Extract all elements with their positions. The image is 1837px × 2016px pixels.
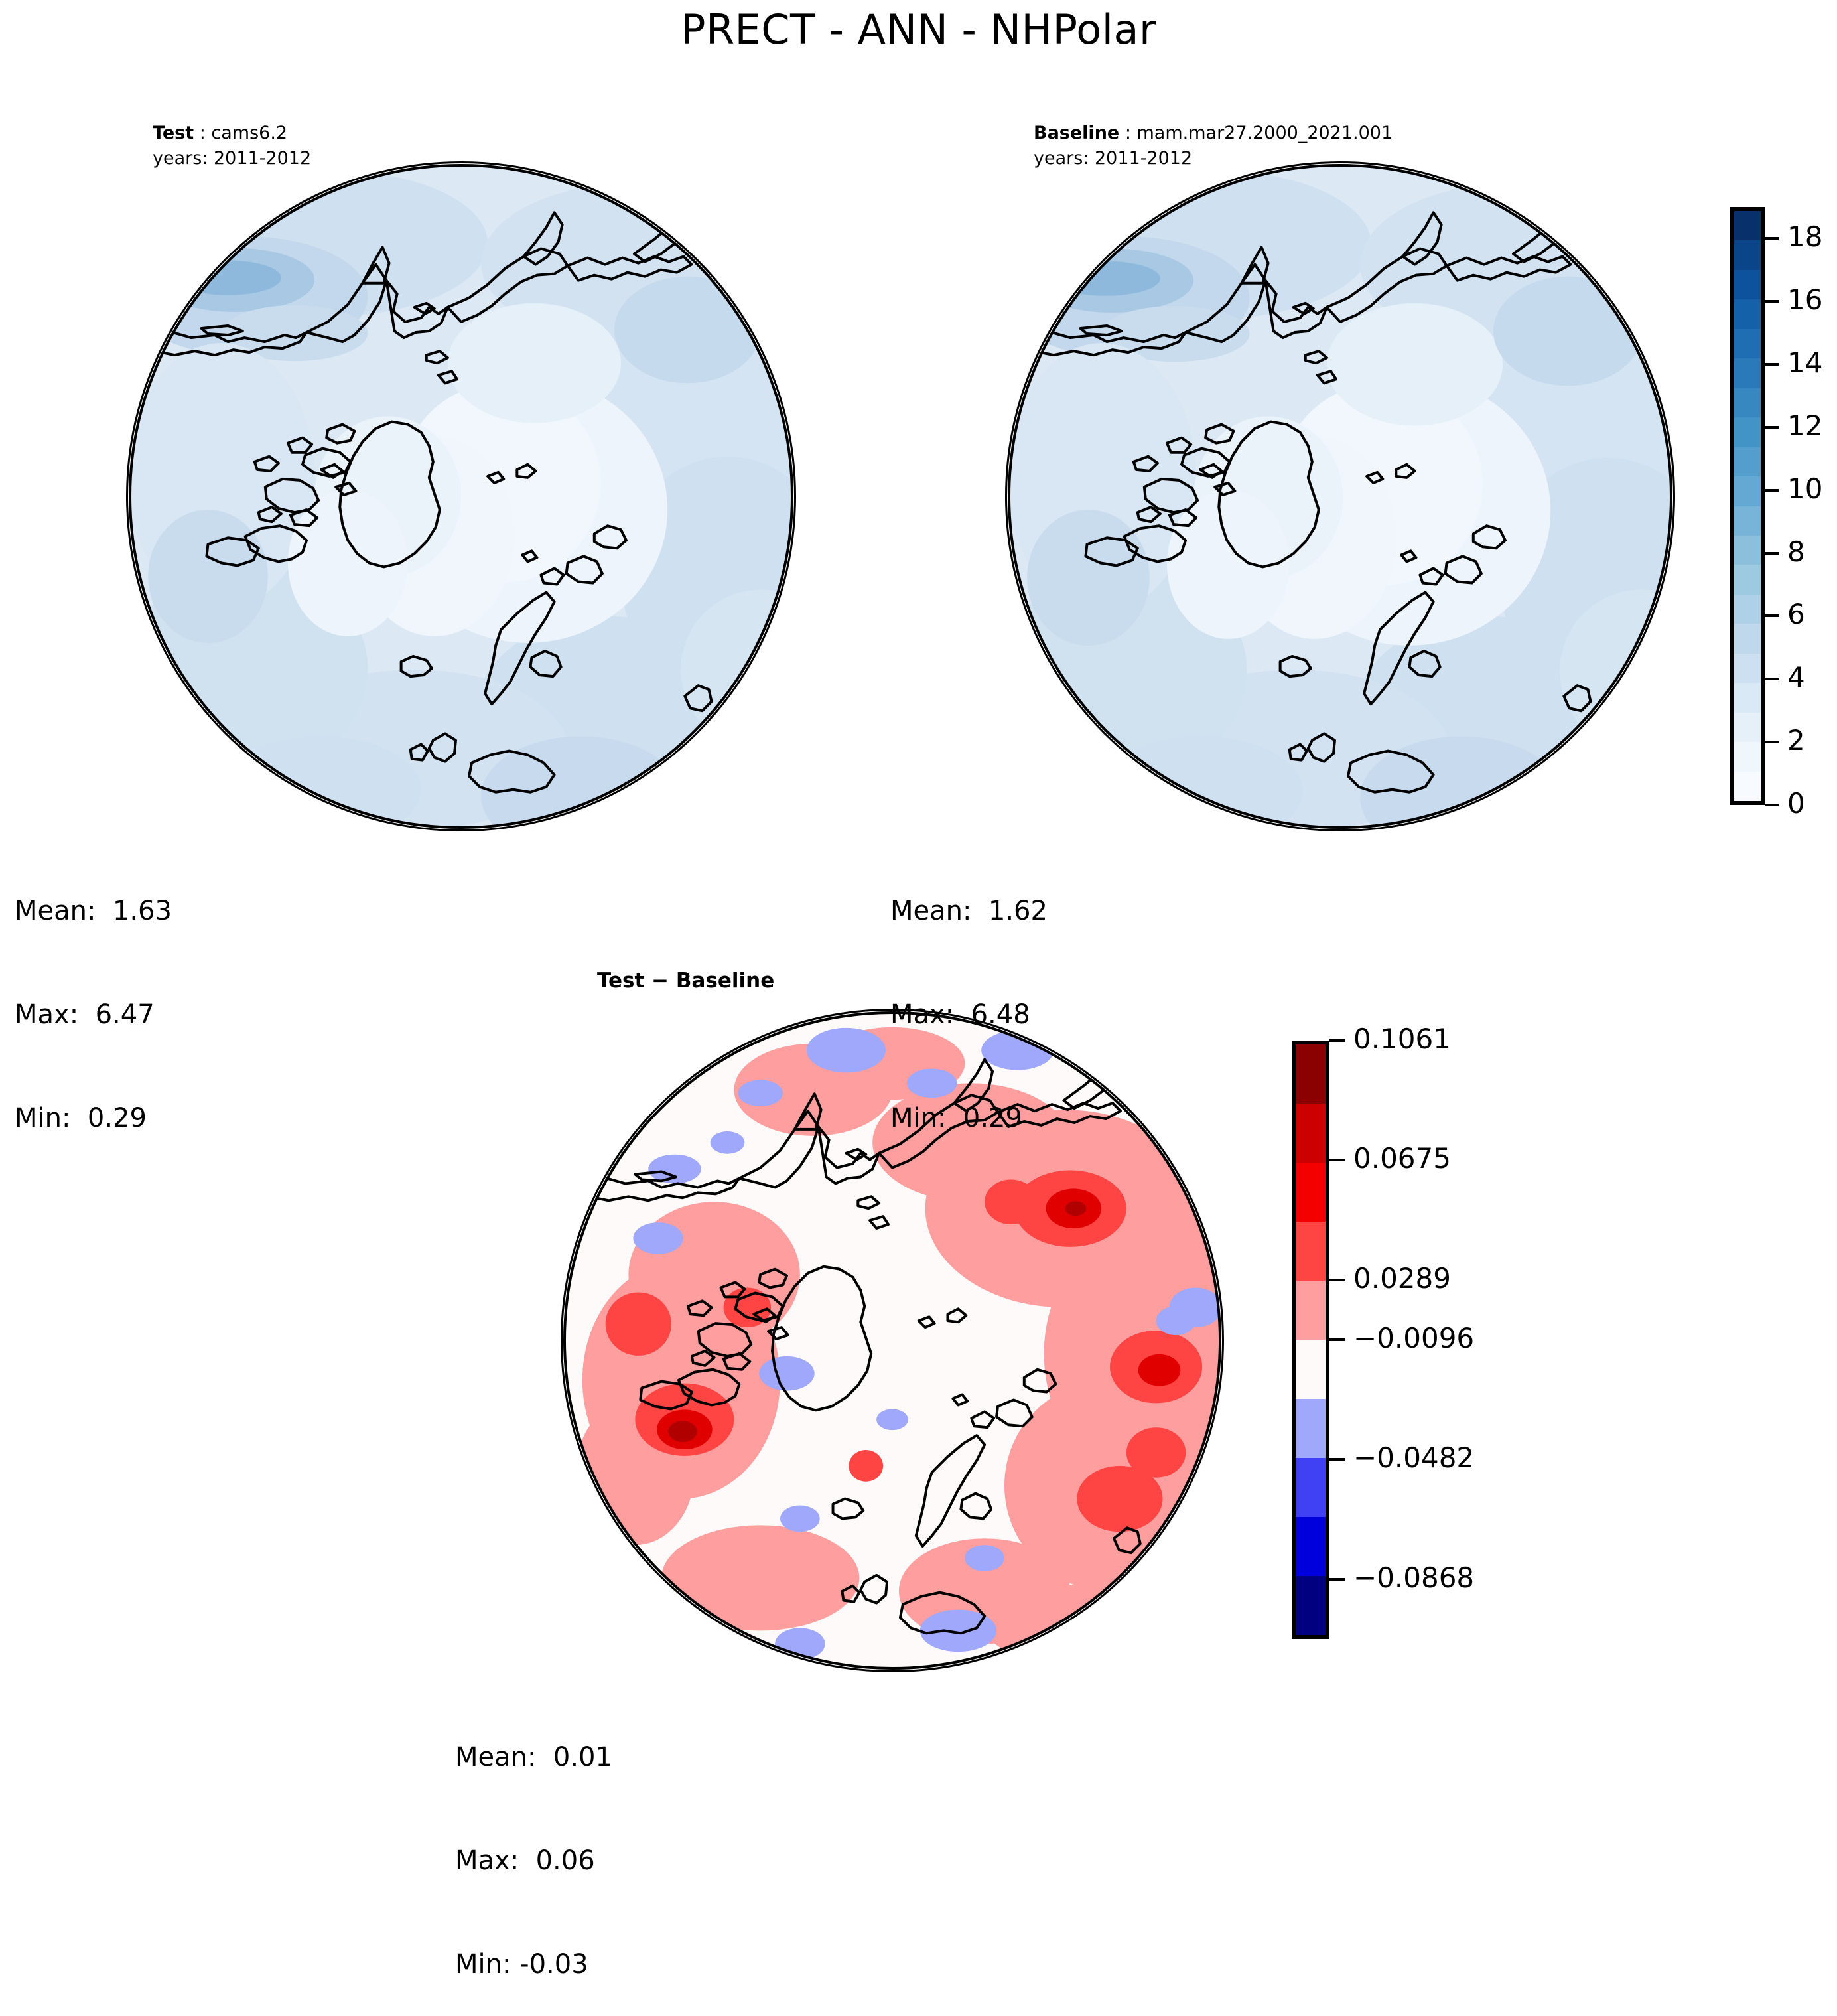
difference-colorbar-band xyxy=(1296,1281,1326,1340)
difference-colorbar-band xyxy=(1296,1044,1326,1104)
difference-colorbar-band xyxy=(1296,1163,1326,1222)
main-colorbar-tick-label: 16 xyxy=(1787,286,1822,314)
main-colorbar-band xyxy=(1734,358,1761,388)
main-colorbar-band xyxy=(1734,506,1761,536)
baseline-label: Baseline xyxy=(1034,123,1119,143)
main-colorbar-band xyxy=(1734,536,1761,565)
difference-colorbar-band xyxy=(1296,1104,1326,1163)
test-stats: Mean: 1.63 Max: 6.47 Min: 0.29 xyxy=(15,825,172,1170)
baseline-map-svg xyxy=(1007,163,1673,829)
difference-colorbar-band xyxy=(1296,1222,1326,1281)
difference-colorbar-tick-label: 0.1061 xyxy=(1353,1025,1451,1053)
difference-min: Min: -0.03 xyxy=(455,1947,612,1981)
main-colorbar-band xyxy=(1734,329,1761,358)
main-colorbar-tick-label: 12 xyxy=(1787,412,1822,440)
main-colorbar-tick xyxy=(1765,426,1779,429)
baseline-mean: Mean: 1.62 xyxy=(890,894,1048,928)
main-colorbar-tick-label: 14 xyxy=(1787,349,1822,377)
difference-mean: Mean: 0.01 xyxy=(455,1740,612,1774)
test-globe[interactable] xyxy=(126,161,796,831)
main-colorbar-tick-label: 2 xyxy=(1787,727,1805,755)
main-colorbar[interactable] xyxy=(1730,207,1765,805)
baseline-globe[interactable] xyxy=(1005,161,1675,831)
difference-colorbar-tick xyxy=(1329,1159,1345,1161)
main-colorbar-band xyxy=(1734,624,1761,653)
test-label: Test xyxy=(153,123,194,143)
main-colorbar-tick-label: 6 xyxy=(1787,601,1805,628)
main-colorbar-band xyxy=(1734,211,1761,240)
main-colorbar-band xyxy=(1734,683,1761,712)
main-colorbar-tick xyxy=(1765,363,1779,366)
difference-colorbar-band xyxy=(1296,1517,1326,1576)
test-separator: : xyxy=(194,123,211,143)
baseline-min: Min: 0.29 xyxy=(890,1101,1048,1135)
test-case-name: cams6.2 xyxy=(211,123,287,143)
main-colorbar-band xyxy=(1734,240,1761,269)
difference-colorbar-tick-label: −0.0096 xyxy=(1353,1325,1474,1352)
main-colorbar-tick-label: 8 xyxy=(1787,538,1805,566)
main-colorbar-band xyxy=(1734,595,1761,624)
difference-stats: Mean: 0.01 Max: 0.06 Min: -0.03 xyxy=(455,1671,612,2016)
difference-panel-title: Test − Baseline xyxy=(597,969,774,993)
baseline-max: Max: 6.48 xyxy=(890,997,1048,1032)
baseline-case-name: mam.mar27.2000_2021.001 xyxy=(1137,123,1393,143)
main-colorbar-band xyxy=(1734,713,1761,742)
main-colorbar-band xyxy=(1734,447,1761,476)
difference-colorbar-tick-label: 0.0675 xyxy=(1353,1145,1451,1173)
main-colorbar-tick-label: 18 xyxy=(1787,223,1822,251)
difference-colorbar-tick xyxy=(1329,1578,1345,1581)
test-map-panel xyxy=(126,161,796,825)
difference-colorbar-band xyxy=(1296,1340,1326,1399)
page-title: PRECT - ANN - NHPolar xyxy=(0,5,1837,54)
main-colorbar-tick xyxy=(1765,237,1779,240)
main-colorbar-tick-label: 10 xyxy=(1787,475,1822,503)
main-colorbar-tick xyxy=(1765,300,1779,303)
test-mean: Mean: 1.63 xyxy=(15,894,172,928)
test-map-svg xyxy=(128,163,794,829)
main-colorbar-tick xyxy=(1765,804,1779,806)
difference-colorbar-tick-label: 0.0289 xyxy=(1353,1265,1451,1293)
baseline-map-panel xyxy=(1005,161,1675,825)
difference-colorbar-tick xyxy=(1329,1458,1345,1461)
difference-colorbar[interactable] xyxy=(1292,1041,1329,1639)
difference-colorbar-band xyxy=(1296,1576,1326,1635)
difference-colorbar-tick-label: −0.0482 xyxy=(1353,1444,1474,1472)
main-colorbar-band xyxy=(1734,476,1761,506)
difference-colorbar-tick xyxy=(1329,1039,1345,1042)
difference-colorbar-tick xyxy=(1329,1279,1345,1281)
main-colorbar-band xyxy=(1734,270,1761,299)
difference-colorbar-band xyxy=(1296,1399,1326,1458)
main-colorbar-tick-label: 4 xyxy=(1787,664,1805,691)
main-colorbar-tick xyxy=(1765,489,1779,492)
difference-colorbar-tick xyxy=(1329,1338,1345,1341)
test-max: Max: 6.47 xyxy=(15,997,172,1032)
main-colorbar-tick xyxy=(1765,552,1779,555)
difference-colorbar-band xyxy=(1296,1458,1326,1517)
baseline-separator: : xyxy=(1119,123,1136,143)
test-min: Min: 0.29 xyxy=(15,1101,172,1135)
main-colorbar-tick xyxy=(1765,614,1779,617)
main-colorbar-band xyxy=(1734,772,1761,801)
difference-colorbar-tick-label: −0.0868 xyxy=(1353,1564,1474,1592)
main-colorbar-tick xyxy=(1765,678,1779,680)
main-colorbar-band xyxy=(1734,299,1761,328)
main-colorbar-band xyxy=(1734,388,1761,417)
main-colorbar-tick xyxy=(1765,741,1779,743)
main-colorbar-band xyxy=(1734,654,1761,683)
main-colorbar-band xyxy=(1734,742,1761,771)
main-colorbar-band xyxy=(1734,417,1761,447)
main-colorbar-tick-label: 0 xyxy=(1787,790,1805,818)
baseline-stats: Mean: 1.62 Max: 6.48 Min: 0.29 xyxy=(890,825,1048,1170)
difference-max: Max: 0.06 xyxy=(455,1843,612,1878)
main-colorbar-band xyxy=(1734,565,1761,594)
